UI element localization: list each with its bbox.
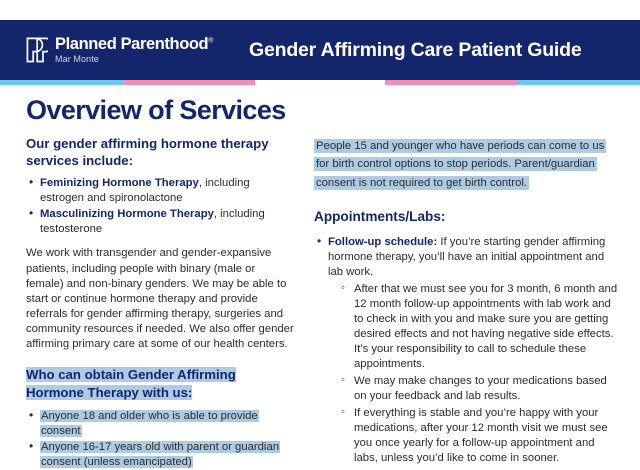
eligibility-bullet-text: Anyone 18 and older who is able to provi…: [40, 410, 259, 437]
eligibility-heading: Who can obtain Gender Affirming Hormone …: [26, 367, 236, 400]
birth-control-highlight-paragraph: People 15 and younger who have periods c…: [314, 136, 618, 191]
document-page: Planned Parenthood® Mar Monte Gender Aff…: [0, 0, 640, 427]
right-column: People 15 and younger who have periods c…: [310, 88, 640, 427]
page-title: Overview of Services: [26, 96, 294, 124]
list-item: After that we must see you for 3 month, …: [340, 282, 618, 372]
list-item: Follow-up schedule: If you’re starting g…: [314, 235, 618, 466]
eligibility-bullet-text: Anyone 16-17 years old with parent or gu…: [40, 441, 280, 468]
services-paragraph: We work with transgender and gender-expa…: [26, 246, 294, 352]
trans-pride-stripe: [0, 80, 640, 85]
list-item: If everything is stable and you’re happy…: [340, 406, 618, 466]
list-item: Feminizing Hormone Therapy, including es…: [26, 176, 294, 206]
logo-wordmark: Planned Parenthood® Mar Monte: [55, 36, 213, 64]
followup-sub-list: After that we must see you for 3 month, …: [340, 282, 618, 466]
planned-parenthood-mark-icon: [26, 37, 48, 63]
stripe-segment-pink-left: [123, 80, 255, 85]
logo-title-text: Planned Parenthood: [55, 35, 208, 53]
birth-control-highlight-text: People 15 and younger who have periods c…: [314, 139, 606, 190]
followup-bold-label: Follow-up schedule:: [328, 236, 437, 248]
list-item: Masculinizing Hormone Therapy, including…: [26, 207, 294, 237]
stripe-segment-pink-right: [385, 80, 518, 85]
guide-title: Gender Affirming Care Patient Guide: [249, 39, 582, 62]
left-column: Overview of Services Our gender affirmin…: [0, 88, 310, 427]
page-header: Planned Parenthood® Mar Monte Gender Aff…: [0, 20, 640, 80]
services-heading: Our gender affirming hormone therapy ser…: [26, 136, 294, 169]
logo-affiliate-name: Mar Monte: [55, 55, 213, 64]
stripe-segment-white-center: [255, 80, 385, 85]
appointments-bullet-list: Follow-up schedule: If you’re starting g…: [314, 235, 618, 466]
appointments-heading: Appointments/Labs:: [314, 209, 618, 226]
eligibility-bullet-list: Anyone 18 and older who is able to provi…: [26, 409, 294, 470]
list-item: Anyone 16-17 years old with parent or gu…: [26, 440, 294, 470]
list-item: We may make changes to your medications …: [340, 374, 618, 404]
list-item: Anyone 18 and older who is able to provi…: [26, 409, 294, 439]
bullet-bold-label: Masculinizing Hormone Therapy: [40, 208, 214, 220]
content-columns: Overview of Services Our gender affirmin…: [0, 88, 640, 427]
eligibility-heading-wrap: Who can obtain Gender Affirming Hormone …: [26, 366, 294, 402]
planned-parenthood-logo: Planned Parenthood® Mar Monte: [26, 36, 213, 64]
services-bullet-list: Feminizing Hormone Therapy, including es…: [26, 176, 294, 237]
stripe-segment-light-blue-right: [518, 80, 640, 85]
stripe-segment-light-blue-left: [0, 80, 123, 85]
logo-title: Planned Parenthood®: [55, 36, 213, 53]
logo-registered-mark: ®: [208, 38, 213, 45]
bullet-bold-label: Feminizing Hormone Therapy: [40, 177, 199, 189]
